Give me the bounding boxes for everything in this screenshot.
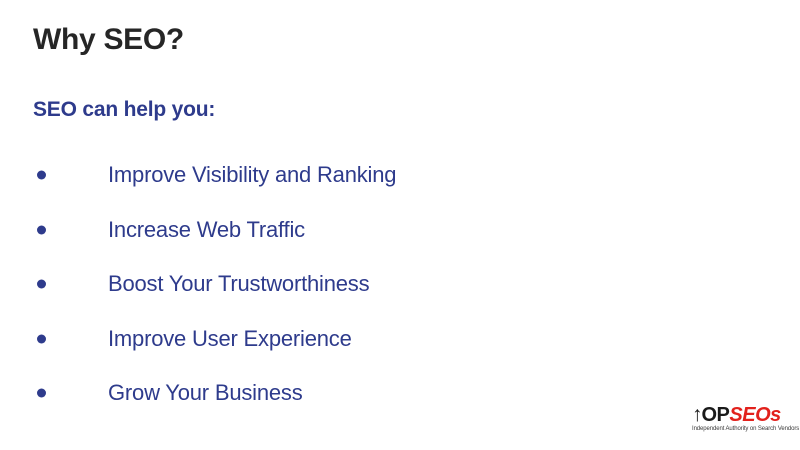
page-title: Why SEO? bbox=[33, 22, 184, 58]
list-item-label: Improve Visibility and Ranking bbox=[108, 162, 396, 188]
logo-text-op: OP bbox=[702, 405, 730, 426]
topseos-logo: ↑ OP SEOs Independent Authority on Searc… bbox=[692, 404, 792, 440]
logo-text-seos: SEOs bbox=[729, 405, 780, 426]
list-item-label: Grow Your Business bbox=[108, 380, 303, 406]
list-item: Improve User Experience bbox=[0, 312, 800, 367]
list-item-label: Boost Your Trustworthiness bbox=[108, 271, 369, 297]
list-item: Grow Your Business bbox=[0, 366, 800, 421]
list-item-label: Improve User Experience bbox=[108, 326, 352, 352]
list-item: Improve Visibility and Ranking bbox=[0, 148, 800, 203]
bullet-point-icon bbox=[37, 334, 46, 343]
slide-canvas: Why SEO? SEO can help you: Improve Visib… bbox=[0, 0, 800, 450]
logo-tagline: Independent Authority on Search Vendors bbox=[692, 426, 792, 432]
list-item: Increase Web Traffic bbox=[0, 203, 800, 258]
bullet-point-icon bbox=[37, 280, 46, 289]
slide-subtitle: SEO can help you: bbox=[33, 97, 215, 122]
logo-wordmark: ↑ OP SEOs bbox=[692, 404, 792, 425]
benefits-list: Improve Visibility and Ranking Increase … bbox=[0, 148, 800, 421]
list-item: Boost Your Trustworthiness bbox=[0, 257, 800, 312]
list-item-label: Increase Web Traffic bbox=[108, 217, 305, 243]
bullet-point-icon bbox=[37, 389, 46, 398]
bullet-point-icon bbox=[37, 225, 46, 234]
bullet-point-icon bbox=[37, 171, 46, 180]
